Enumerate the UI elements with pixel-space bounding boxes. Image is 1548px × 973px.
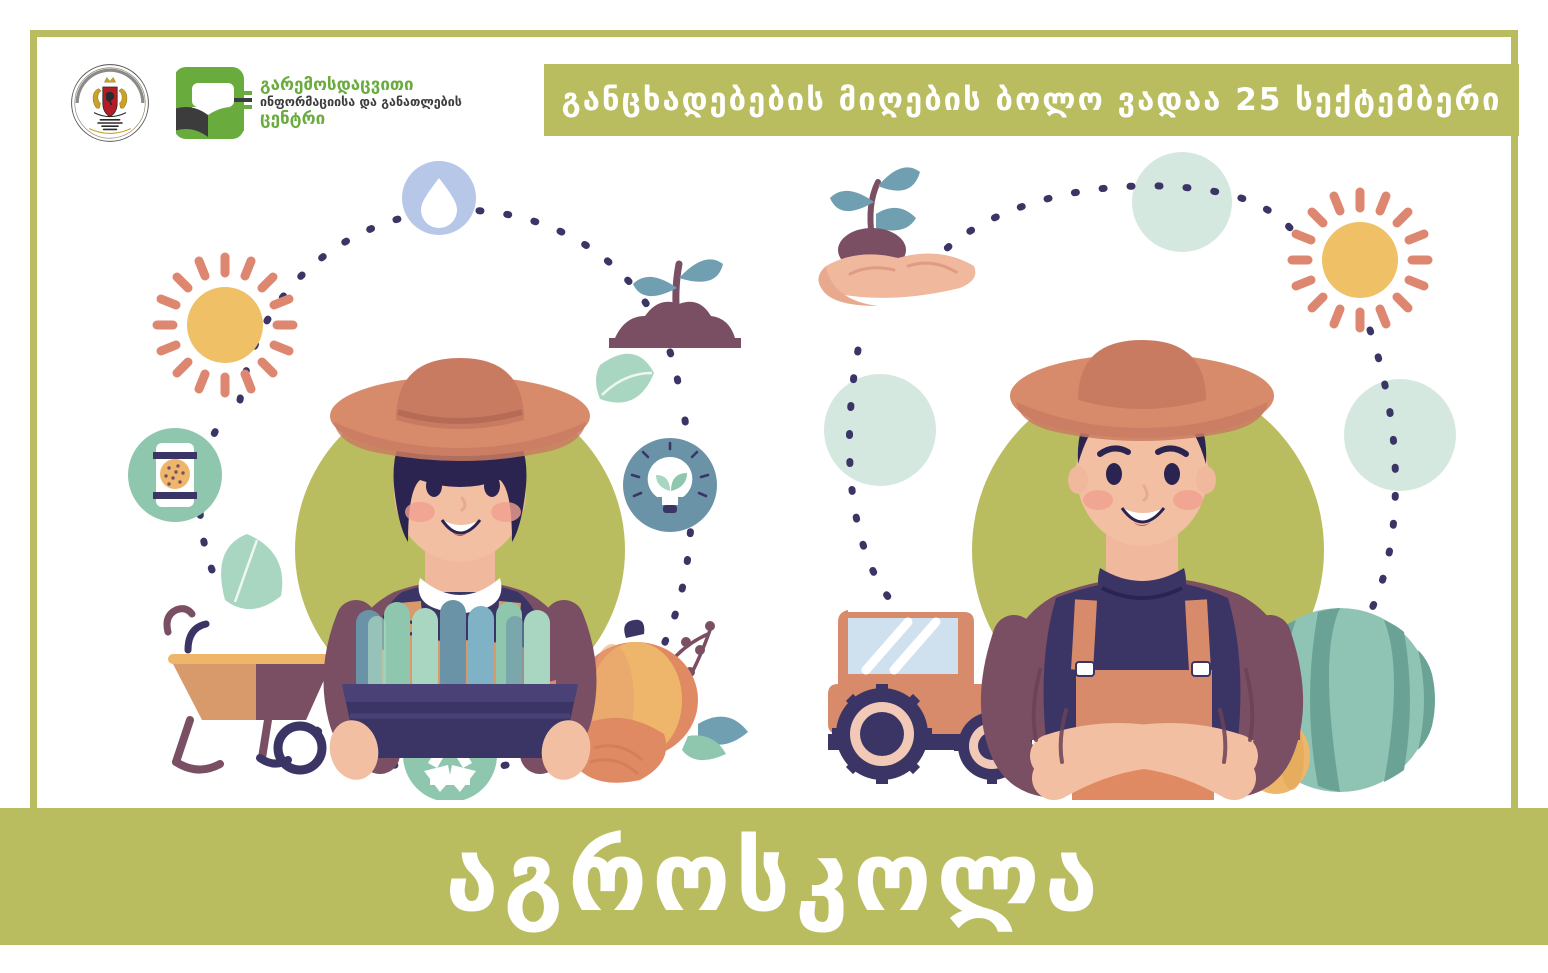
decor-circle [824,374,936,486]
org-logo-glyph [176,63,254,143]
org-line-2: ინფორმაციისა და განათლების [260,95,462,110]
decor-circle [1344,379,1456,491]
org-line-1: გარემოსდაცვითი [260,76,462,95]
eco-lightbulb-icon [623,438,717,532]
jam-jar-icon [128,428,222,522]
illustration-left [120,150,800,800]
poster-root: გარემოსდაცვითი ინფორმაციისა და განათლები… [0,0,1548,973]
georgia-coat-of-arms-emblem [70,63,150,143]
sun-icon [157,257,293,393]
org-logo-text: გარემოსდაცვითი ინფორმაციისა და განათლები… [260,76,462,129]
sprout-in-soil-icon [609,259,741,348]
poster-title: აგროსკოლა [445,829,1102,925]
sun-icon [1292,192,1428,328]
hand-holding-sprout-icon [818,167,975,306]
logo-group: გარემოსდაცვითი ინფორმაციისა და განათლები… [70,55,462,150]
deadline-banner-text: განცხადებების მიღების ბოლო ვადაა 25 სექტ… [561,85,1501,116]
wheelbarrow-icon [167,609,336,770]
org-line-3: ცენტრი [260,110,462,129]
deadline-banner: განცხადებების მიღების ბოლო ვადაა 25 სექტ… [544,64,1519,136]
org-logo: გარემოსდაცვითი ინფორმაციისა და განათლები… [176,63,462,143]
leaf-icon [221,534,282,609]
vegetable-crate [342,600,578,758]
water-drop-icon [402,161,476,235]
title-banner: აგროსკოლა [0,808,1548,945]
pumpkin-and-berries-icon [574,620,748,783]
leaf-icon [596,354,654,403]
illustration-right [800,150,1480,800]
decor-circle [1132,152,1232,252]
